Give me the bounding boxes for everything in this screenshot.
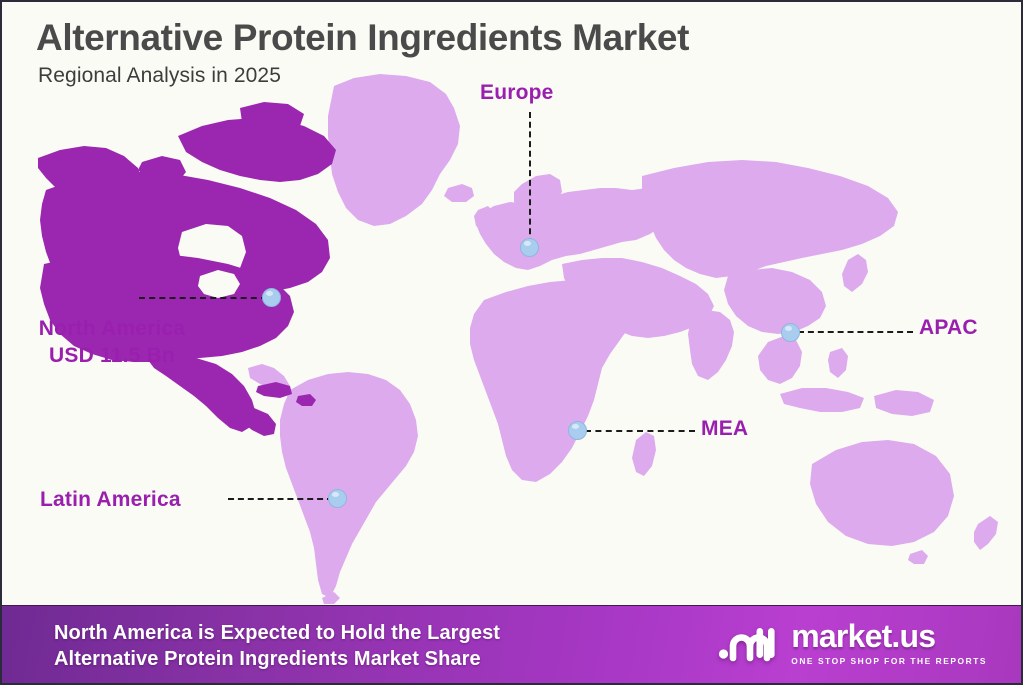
footer-headline: North America is Expected to Hold the La… bbox=[54, 620, 500, 673]
logo-wordmark: market.us bbox=[791, 620, 987, 652]
logo-text-block: market.us ONE STOP SHOP FOR THE REPORTS bbox=[791, 620, 987, 666]
region-japan bbox=[842, 254, 868, 292]
region-label-north-america: North America USD 11.5 Bn bbox=[16, 316, 208, 370]
market-us-logo-icon bbox=[718, 620, 780, 666]
region-new-guinea bbox=[874, 390, 934, 416]
footer-headline-line1: North America is Expected to Hold the La… bbox=[54, 622, 500, 644]
region-south-america bbox=[280, 372, 418, 598]
marker-latin-america bbox=[328, 489, 347, 508]
region-greenland bbox=[328, 74, 460, 226]
region-name-latin-america: Latin America bbox=[40, 488, 181, 511]
region-iceland bbox=[444, 184, 474, 202]
marker-mea bbox=[568, 421, 587, 440]
leader-line-apac bbox=[798, 331, 913, 333]
region-name-apac: APAC bbox=[919, 316, 978, 339]
leader-line-latin-america bbox=[228, 498, 333, 500]
region-indonesia bbox=[780, 388, 864, 412]
footer-headline-line2: Alternative Protein Ingredients Market S… bbox=[54, 646, 500, 672]
region-value-north-america: USD 11.5 Bn bbox=[16, 343, 208, 370]
region-central-america-hl bbox=[238, 408, 276, 436]
region-label-europe: Europe bbox=[480, 81, 554, 105]
region-philippines bbox=[828, 348, 848, 378]
region-label-latin-america: Latin America bbox=[40, 488, 181, 512]
leader-line-europe bbox=[529, 112, 531, 244]
infographic-page: Alternative Protein Ingredients Market R… bbox=[0, 0, 1023, 685]
brand-logo: market.us ONE STOP SHOP FOR THE REPORTS bbox=[718, 620, 987, 666]
marker-apac bbox=[781, 323, 800, 342]
page-title: Alternative Protein Ingredients Market bbox=[36, 18, 936, 58]
map-regions-base bbox=[248, 74, 998, 604]
leader-line-north-america bbox=[139, 297, 267, 299]
region-name-europe: Europe bbox=[480, 81, 554, 104]
footer-banner: North America is Expected to Hold the La… bbox=[2, 605, 1021, 683]
region-southeast-asia bbox=[758, 336, 802, 384]
region-name-mea: MEA bbox=[701, 417, 748, 440]
leader-line-mea bbox=[585, 430, 695, 432]
region-tasmania bbox=[908, 550, 928, 564]
region-india bbox=[688, 310, 734, 380]
logo-tagline: ONE STOP SHOP FOR THE REPORTS bbox=[791, 656, 987, 666]
region-australia bbox=[810, 440, 954, 546]
map-regions-highlight bbox=[38, 102, 336, 436]
region-madagascar bbox=[632, 432, 656, 476]
region-name-north-america: North America bbox=[39, 317, 186, 340]
region-label-mea: MEA bbox=[701, 417, 748, 441]
region-africa bbox=[470, 280, 634, 482]
region-label-apac: APAC bbox=[919, 316, 978, 340]
region-east-asia bbox=[724, 268, 826, 334]
marker-north-america bbox=[262, 288, 281, 307]
region-new-zealand bbox=[974, 516, 998, 550]
marker-europe bbox=[520, 238, 539, 257]
